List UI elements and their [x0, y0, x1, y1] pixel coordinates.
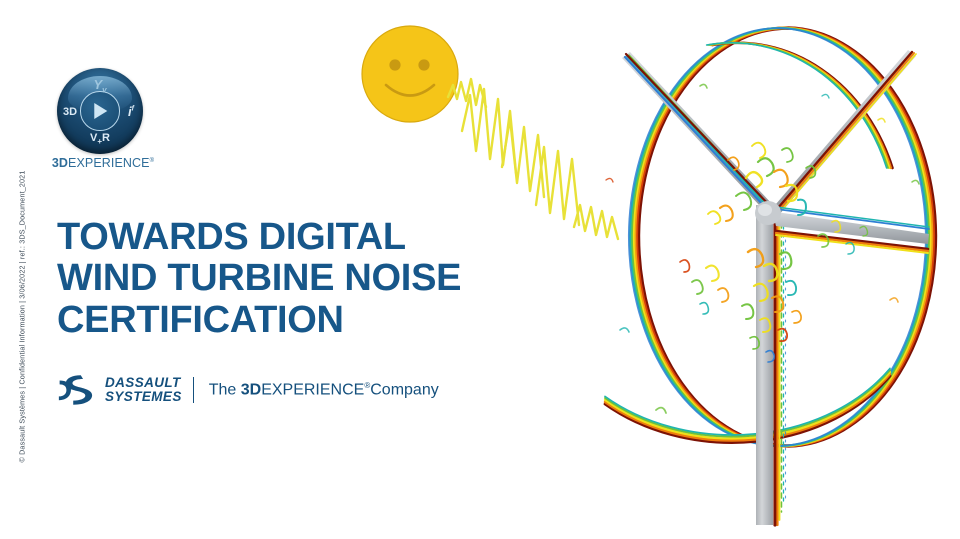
- tagline-company: Company: [370, 381, 438, 398]
- title-line-2: Wind Turbine Noise: [57, 258, 577, 299]
- company-tagline: The 3DEXPERIENCE®Company: [209, 381, 439, 399]
- dassault-systemes-logo: DASSAULT SYSTEMES The 3DEXPERIENCE®Compa…: [58, 370, 439, 410]
- smiley-right-eye: [418, 59, 429, 70]
- tower-edge-vortices: [775, 212, 786, 525]
- 3dexperience-compass-icon: 3D if V+R Yv: [57, 68, 143, 154]
- tower-wake-vortex-arc: [605, 368, 890, 442]
- tagline-the: The: [209, 381, 241, 398]
- tagline-experience: EXPERIENCE: [261, 381, 364, 398]
- turbine-hub-highlight: [758, 204, 772, 216]
- compass-play-triangle: [94, 103, 107, 119]
- legal-sidebar-text: © Dassault Systèmes | Confidential Infor…: [18, 63, 27, 463]
- presentation-slide: © Dassault Systèmes | Confidential Infor…: [0, 0, 960, 539]
- compass-label-y: Yv: [93, 78, 106, 95]
- wordmark-experience: EXPERIENCE: [68, 156, 150, 170]
- wave-segment-1: [448, 79, 486, 107]
- ds-monogram-icon: [58, 373, 96, 407]
- ds-wordmark-line-2: SYSTEMES: [105, 390, 182, 404]
- blade-right: [774, 207, 929, 253]
- legal-sidebar: © Dassault Systèmes | Confidential Infor…: [0, 0, 18, 539]
- wordmark-registered-mark: ®: [150, 158, 155, 164]
- smiley-left-eye: [389, 59, 400, 70]
- logo-divider: [193, 377, 194, 403]
- ds-wordmark-line-1: DASSAULT: [105, 376, 182, 390]
- wind-turbine-cfd-visualization: [560, 0, 960, 539]
- title-line-3: Certification: [57, 300, 577, 341]
- ds-wordmark: DASSAULT SYSTEMES: [105, 376, 182, 404]
- tagline-3d: 3D: [241, 381, 261, 398]
- compass-label-i: if: [128, 105, 134, 118]
- compass-label-3d: 3D: [63, 107, 77, 118]
- wordmark-3d: 3D: [52, 156, 68, 170]
- blade-upper-right: [770, 50, 916, 216]
- 3dexperience-wordmark: 3DEXPERIENCE®: [48, 156, 158, 170]
- compass-label-vr: V+R: [90, 133, 110, 146]
